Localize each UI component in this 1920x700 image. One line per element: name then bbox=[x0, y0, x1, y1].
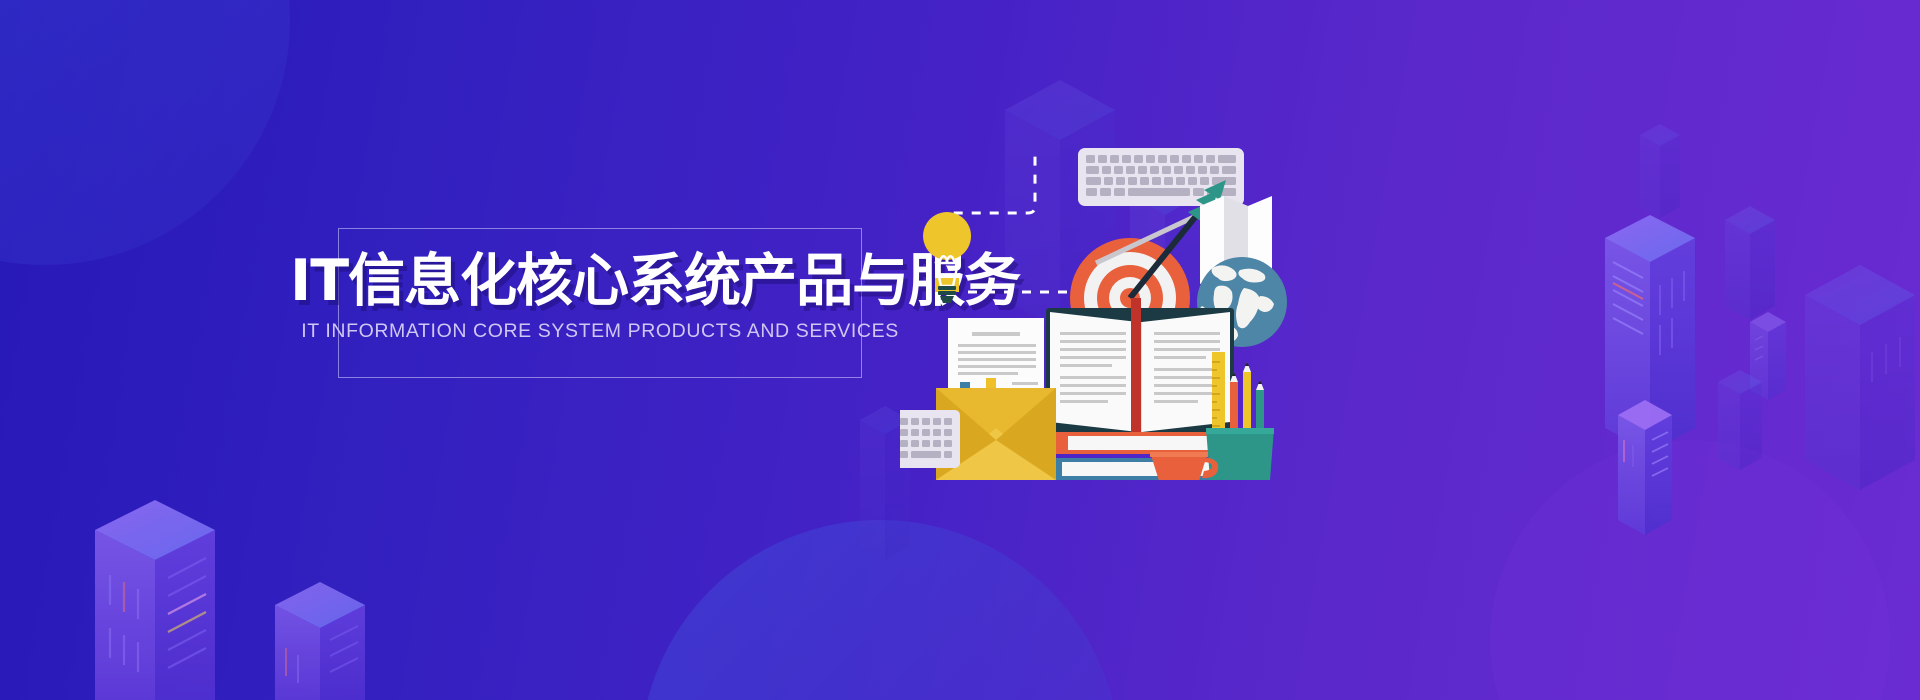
iso-tower-bl-small bbox=[275, 582, 365, 700]
iso-tower-r7 bbox=[1640, 124, 1680, 218]
open-book-icon bbox=[1046, 298, 1234, 452]
page-subtitle: IT INFORMATION CORE SYSTEM PRODUCTS AND … bbox=[290, 320, 910, 343]
iso-tower-r3 bbox=[1725, 206, 1775, 320]
iso-tower-r5 bbox=[1718, 370, 1762, 470]
iso-tower-bl-large bbox=[95, 500, 215, 700]
hero-text-block: IT信息化核心系统产品与服务 IT INFORMATION CORE SYSTE… bbox=[338, 228, 862, 378]
iso-tower-r6 bbox=[1805, 265, 1915, 490]
circle-top-left bbox=[0, 0, 290, 265]
keyboard-bottom-icon bbox=[900, 410, 960, 468]
circle-right-glow bbox=[1490, 440, 1890, 700]
hero-illustration bbox=[900, 110, 1300, 480]
hero-banner: IT信息化核心系统产品与服务 IT INFORMATION CORE SYSTE… bbox=[0, 0, 1920, 700]
bookmark-ribbon-icon bbox=[1131, 298, 1141, 452]
iso-tower-r2 bbox=[1618, 400, 1672, 535]
lightbulb-icon bbox=[923, 212, 971, 303]
page-title: IT信息化核心系统产品与服务 bbox=[290, 250, 910, 312]
